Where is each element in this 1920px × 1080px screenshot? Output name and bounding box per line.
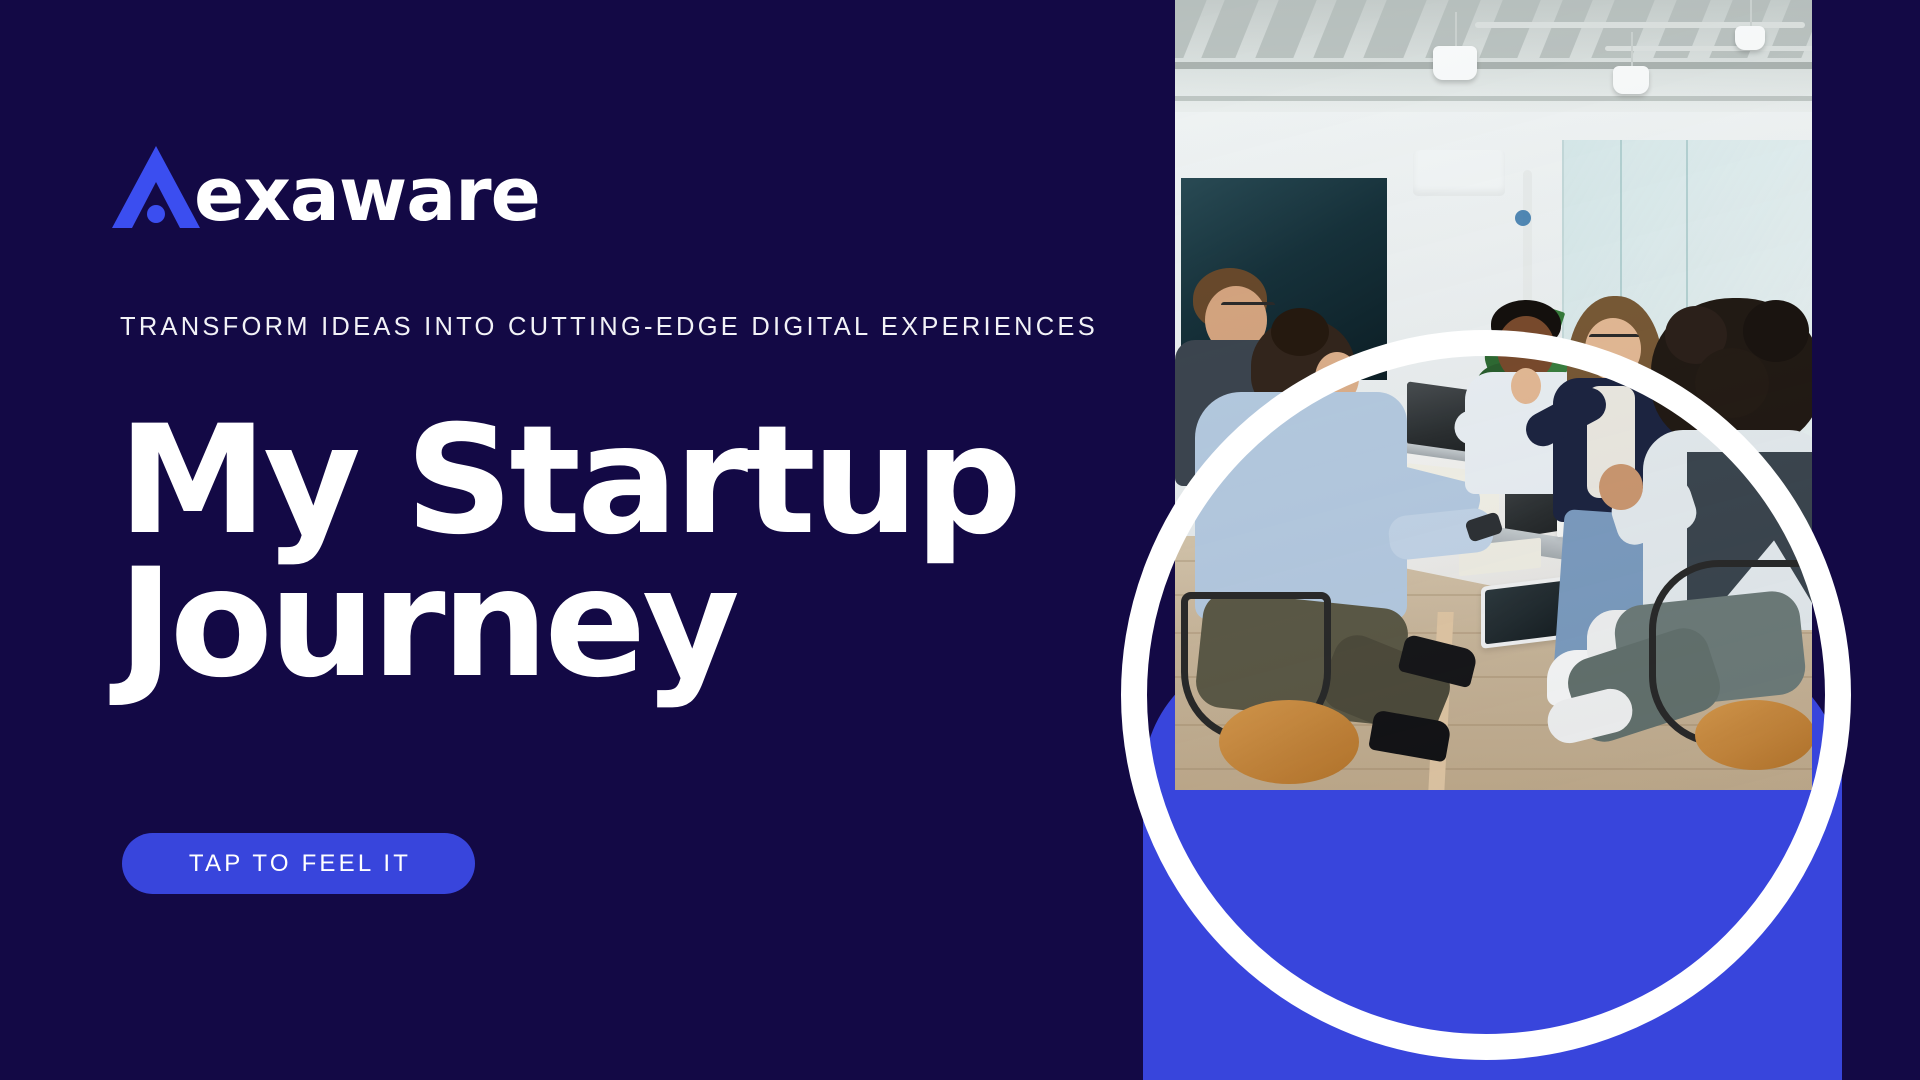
pendant-light [1613,66,1649,94]
hero-visual-group [1100,0,1920,1080]
tap-to-feel-it-button[interactable]: TAP TO FEEL IT [122,833,475,894]
headline-line-2: Journey [118,553,1098,696]
aexaware-chevron-mark-icon [110,142,202,230]
brand-wordmark: exaware [194,164,540,228]
pendant-light [1433,46,1477,80]
hero-tagline: TRANSFORM IDEAS INTO CUTTING-EDGE DIGITA… [120,313,1098,342]
pendant-light [1735,26,1765,50]
headline-line-1: My Startup [118,410,1098,553]
presentation-slide: exaware TRANSFORM IDEAS INTO CUTTING-EDG… [0,0,1920,1080]
brand-logo[interactable]: exaware [110,140,552,230]
air-duct [1413,150,1505,196]
hero-content: exaware TRANSFORM IDEAS INTO CUTTING-EDG… [0,0,1150,1080]
ceiling [1175,0,1812,120]
page-title: My Startup Journey [118,410,1098,695]
team-meeting-photo [1175,0,1812,790]
office-scene-illustration [1175,0,1812,790]
